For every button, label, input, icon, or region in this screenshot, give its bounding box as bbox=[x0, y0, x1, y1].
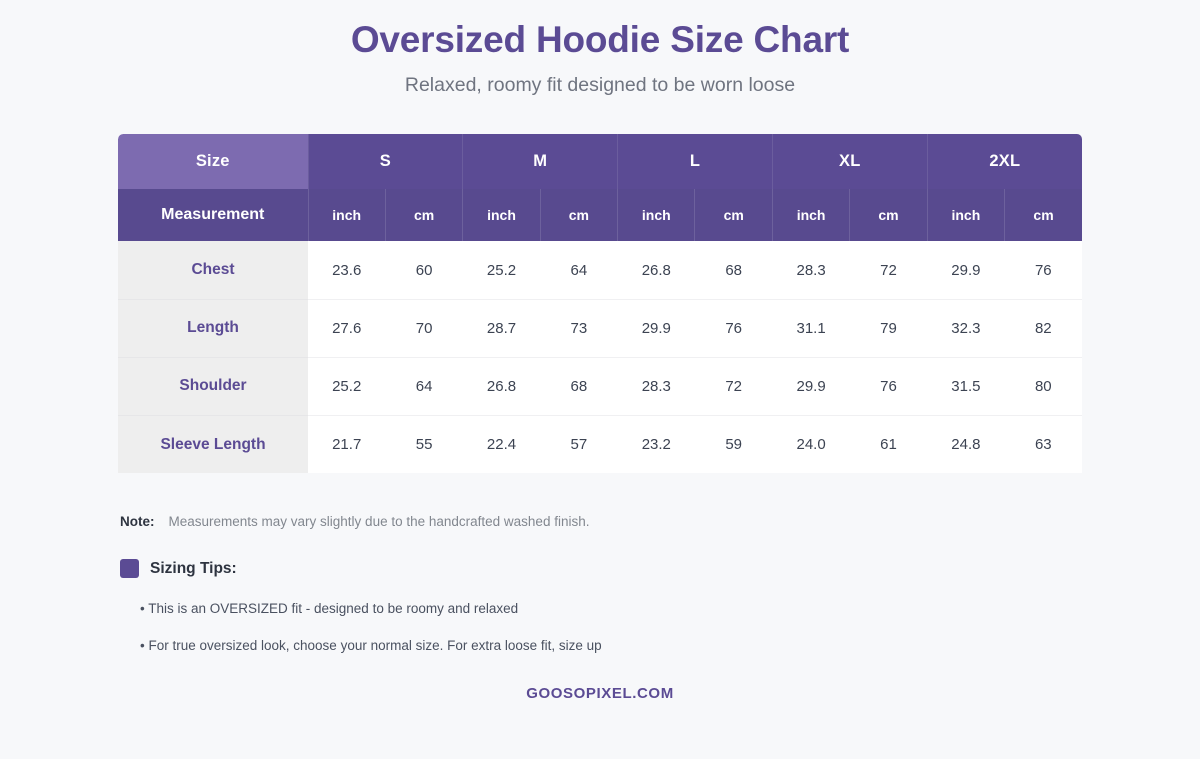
cell-length-s-inch: 27.6 bbox=[308, 299, 385, 357]
cell-length-xl-cm: 79 bbox=[850, 299, 927, 357]
cell-sleeve-l-inch: 23.2 bbox=[618, 415, 695, 473]
size-table-container: Size S M L XL 2XL Measurement inch cm in… bbox=[118, 134, 1082, 473]
unit-header-xl-cm: cm bbox=[850, 189, 927, 241]
list-item: • This is an OVERSIZED fit - designed to… bbox=[140, 600, 1082, 619]
unit-header-s-cm: cm bbox=[385, 189, 462, 241]
sizing-tips-title: Sizing Tips: bbox=[150, 560, 237, 578]
row-label-chest: Chest bbox=[118, 241, 308, 299]
measurement-header-label: Measurement bbox=[118, 189, 308, 241]
page-subtitle: Relaxed, roomy fit designed to be worn l… bbox=[0, 74, 1200, 97]
size-chart-table: Size S M L XL 2XL Measurement inch cm in… bbox=[118, 134, 1082, 473]
size-header-2xl: 2XL bbox=[927, 134, 1082, 189]
cell-chest-2xl-cm: 76 bbox=[1005, 241, 1082, 299]
cell-length-l-inch: 29.9 bbox=[618, 299, 695, 357]
unit-header-2xl-cm: cm bbox=[1005, 189, 1082, 241]
size-header-s: S bbox=[308, 134, 463, 189]
cell-sleeve-2xl-inch: 24.8 bbox=[927, 415, 1004, 473]
table-body: Chest 23.6 60 25.2 64 26.8 68 28.3 72 29… bbox=[118, 241, 1082, 473]
cell-length-m-cm: 73 bbox=[540, 299, 617, 357]
cell-shoulder-xl-cm: 76 bbox=[850, 357, 927, 415]
page-title: Oversized Hoodie Size Chart bbox=[0, 18, 1200, 62]
cell-length-2xl-cm: 82 bbox=[1005, 299, 1082, 357]
purple-square-icon bbox=[120, 559, 139, 578]
cell-shoulder-l-inch: 28.3 bbox=[618, 357, 695, 415]
cell-sleeve-m-inch: 22.4 bbox=[463, 415, 540, 473]
table-row: Sleeve Length 21.7 55 22.4 57 23.2 59 24… bbox=[118, 415, 1082, 473]
cell-shoulder-xl-inch: 29.9 bbox=[772, 357, 849, 415]
unit-header-l-cm: cm bbox=[695, 189, 772, 241]
table-corner-size-label: Size bbox=[118, 134, 308, 189]
size-header-l: L bbox=[618, 134, 773, 189]
cell-length-s-cm: 70 bbox=[385, 299, 462, 357]
cell-sleeve-s-inch: 21.7 bbox=[308, 415, 385, 473]
footer-brand: GOOSOPIXEL.COM bbox=[0, 685, 1200, 702]
cell-shoulder-2xl-cm: 80 bbox=[1005, 357, 1082, 415]
cell-shoulder-m-cm: 68 bbox=[540, 357, 617, 415]
table-row: Length 27.6 70 28.7 73 29.9 76 31.1 79 3… bbox=[118, 299, 1082, 357]
cell-chest-s-inch: 23.6 bbox=[308, 241, 385, 299]
row-label-shoulder: Shoulder bbox=[118, 357, 308, 415]
cell-chest-xl-cm: 72 bbox=[850, 241, 927, 299]
cell-sleeve-m-cm: 57 bbox=[540, 415, 617, 473]
note-label: Note: bbox=[120, 514, 155, 529]
cell-length-l-cm: 76 bbox=[695, 299, 772, 357]
cell-chest-m-inch: 25.2 bbox=[463, 241, 540, 299]
cell-chest-2xl-inch: 29.9 bbox=[927, 241, 1004, 299]
list-item: • For true oversized look, choose your n… bbox=[140, 637, 1082, 656]
cell-length-2xl-inch: 32.3 bbox=[927, 299, 1004, 357]
cell-shoulder-2xl-inch: 31.5 bbox=[927, 357, 1004, 415]
size-header-xl: XL bbox=[772, 134, 927, 189]
cell-shoulder-s-inch: 25.2 bbox=[308, 357, 385, 415]
cell-chest-l-cm: 68 bbox=[695, 241, 772, 299]
cell-sleeve-s-cm: 55 bbox=[385, 415, 462, 473]
unit-header-xl-inch: inch bbox=[772, 189, 849, 241]
cell-shoulder-s-cm: 64 bbox=[385, 357, 462, 415]
notes-section: Note: Measurements may vary slightly due… bbox=[118, 514, 1082, 656]
note-line: Note: Measurements may vary slightly due… bbox=[120, 514, 1082, 529]
table-row: Shoulder 25.2 64 26.8 68 28.3 72 29.9 76… bbox=[118, 357, 1082, 415]
cell-sleeve-xl-cm: 61 bbox=[850, 415, 927, 473]
row-label-sleeve-length: Sleeve Length bbox=[118, 415, 308, 473]
cell-length-m-inch: 28.7 bbox=[463, 299, 540, 357]
row-label-length: Length bbox=[118, 299, 308, 357]
unit-header-l-inch: inch bbox=[618, 189, 695, 241]
sizing-tips-heading: Sizing Tips: bbox=[120, 559, 1082, 578]
unit-header-m-cm: cm bbox=[540, 189, 617, 241]
cell-sleeve-l-cm: 59 bbox=[695, 415, 772, 473]
size-chart-page: Oversized Hoodie Size Chart Relaxed, roo… bbox=[0, 0, 1200, 759]
unit-header-s-inch: inch bbox=[308, 189, 385, 241]
unit-header-2xl-inch: inch bbox=[927, 189, 1004, 241]
table-head: Size S M L XL 2XL Measurement inch cm in… bbox=[118, 134, 1082, 241]
cell-shoulder-l-cm: 72 bbox=[695, 357, 772, 415]
cell-chest-l-inch: 26.8 bbox=[618, 241, 695, 299]
cell-sleeve-2xl-cm: 63 bbox=[1005, 415, 1082, 473]
note-text: Measurements may vary slightly due to th… bbox=[169, 514, 590, 529]
cell-chest-m-cm: 64 bbox=[540, 241, 617, 299]
size-header-m: M bbox=[463, 134, 618, 189]
unit-header-m-inch: inch bbox=[463, 189, 540, 241]
cell-shoulder-m-inch: 26.8 bbox=[463, 357, 540, 415]
unit-header-row: Measurement inch cm inch cm inch cm inch… bbox=[118, 189, 1082, 241]
cell-sleeve-xl-inch: 24.0 bbox=[772, 415, 849, 473]
size-header-row: Size S M L XL 2XL bbox=[118, 134, 1082, 189]
cell-chest-xl-inch: 28.3 bbox=[772, 241, 849, 299]
cell-chest-s-cm: 60 bbox=[385, 241, 462, 299]
cell-length-xl-inch: 31.1 bbox=[772, 299, 849, 357]
table-row: Chest 23.6 60 25.2 64 26.8 68 28.3 72 29… bbox=[118, 241, 1082, 299]
sizing-tips-list: • This is an OVERSIZED fit - designed to… bbox=[120, 600, 1082, 656]
